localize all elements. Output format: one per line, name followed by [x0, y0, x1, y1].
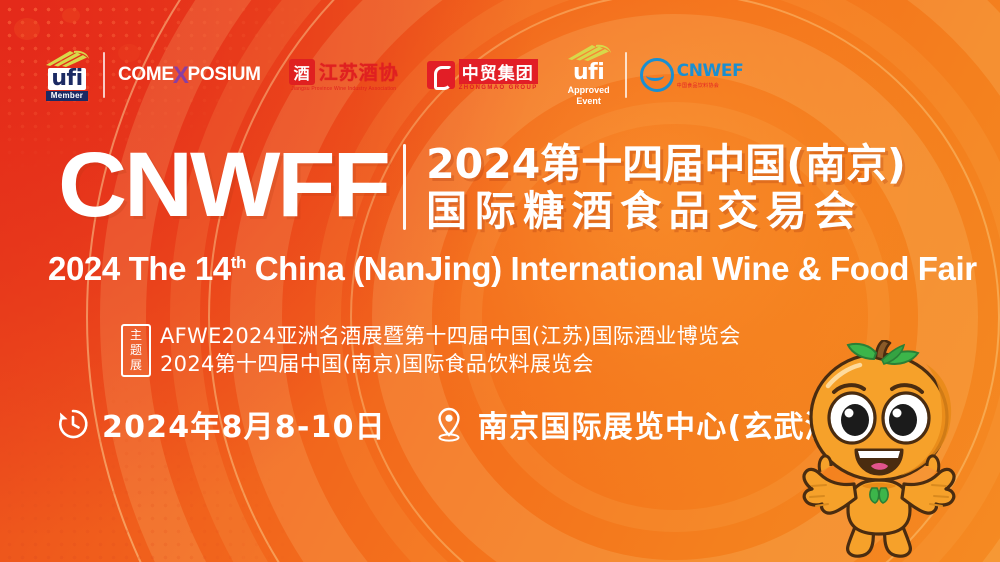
- jiangsu-sub-label: Jiangsu Province Wine Industry Associati…: [291, 86, 396, 92]
- comexposium-part2: POSIUM: [188, 64, 261, 86]
- english-title-prefix: 2024 The 14: [48, 250, 231, 287]
- english-title-ordinal: th: [231, 253, 246, 272]
- decorative-blob: [62, 8, 80, 23]
- ufi-approved-line1: Approved: [568, 85, 610, 95]
- logo-zhongmao-group: 中贸集团 ZHONGMAO GROUP: [427, 46, 538, 104]
- theme-line: 2024第十四届中国(南京)国际食品饮料展览会: [160, 352, 741, 377]
- logo-cnwef: CNWEF 中国食品饮料协会: [640, 46, 744, 104]
- chinese-title: 2024第十四届中国(南京) 国际糖酒食品交易会: [426, 142, 906, 232]
- partner-logo-bar: ufi Member COME X POSIUM 酒 江苏酒协 Jiangsu …: [44, 46, 743, 104]
- ufi-approved-line2: Event: [576, 96, 601, 106]
- logo-divider: [625, 52, 627, 98]
- orange-fruit-mascot: [776, 340, 994, 562]
- main-headline: CNWFF 2024第十四届中国(南京) 国际糖酒食品交易会: [58, 142, 906, 232]
- event-date: 2024年8月8-10日: [102, 402, 386, 446]
- theme-badge-char-3: 展: [130, 359, 142, 372]
- event-date-group: 2024年8月8-10日: [56, 402, 386, 446]
- logo-divider: [103, 52, 105, 98]
- comexposium-part1: COME: [118, 64, 174, 86]
- ufi-approved-wing-icon: [566, 44, 612, 61]
- logo-comexposium: COME X POSIUM: [118, 46, 261, 104]
- cnwef-globe-icon: [640, 58, 674, 92]
- theme-line: AFWE2024亚洲名酒展暨第十四届中国(江苏)国际酒业博览会: [160, 324, 741, 349]
- logo-ufi-member: ufi Member: [44, 46, 90, 104]
- decorative-blob: [14, 18, 40, 40]
- location-pin-icon: [432, 406, 466, 442]
- zhongmao-sub-label: ZHONGMAO GROUP: [459, 85, 538, 91]
- zhongmao-mark-icon: [427, 61, 455, 89]
- chinese-title-line-2: 国际糖酒食品交易会: [426, 191, 906, 232]
- english-title-suffix: China (NanJing) International Wine & Foo…: [246, 250, 977, 287]
- cnwef-sub-label: 中国食品饮料协会: [677, 82, 744, 89]
- jiangsu-seal-icon: 酒: [289, 59, 315, 85]
- comexposium-x-accent: X: [173, 62, 189, 90]
- zhongmao-wordmark: 中贸集团: [459, 59, 538, 84]
- clock-icon: [56, 407, 90, 441]
- jiangsu-wordmark: 江苏酒协: [319, 58, 399, 85]
- logo-jiangsu-wine-association: 酒 江苏酒协 Jiangsu Province Wine Industry As…: [289, 46, 399, 104]
- theme-line-list: AFWE2024亚洲名酒展暨第十四届中国(江苏)国际酒业博览会 2024第十四届…: [160, 324, 741, 377]
- ufi-wing-icon: [44, 50, 90, 67]
- english-title: 2024 The 14th China (NanJing) Internatio…: [48, 250, 977, 288]
- ufi-member-label: Member: [46, 91, 88, 101]
- theme-badge: 主 题 展: [121, 324, 151, 377]
- theme-exhibitions: 主 题 展 AFWE2024亚洲名酒展暨第十四届中国(江苏)国际酒业博览会 20…: [121, 324, 741, 377]
- theme-badge-char-2: 题: [130, 344, 142, 357]
- headline-divider: [403, 144, 406, 230]
- logo-ufi-approved-event: ufi Approved Event: [566, 46, 612, 104]
- promo-banner: ufi Member COME X POSIUM 酒 江苏酒协 Jiangsu …: [0, 0, 1000, 562]
- chinese-title-line-1: 2024第十四届中国(南京): [426, 144, 906, 185]
- event-meta: 2024年8月8-10日 南京国际展览中心(玄武湖): [56, 402, 851, 446]
- ufi-approved-wordmark: ufi: [570, 62, 607, 84]
- theme-badge-char-1: 主: [130, 329, 142, 342]
- cnwef-wordmark: CNWEF: [677, 61, 744, 81]
- event-acronym: CNWFF: [58, 142, 388, 228]
- ufi-wordmark: ufi: [48, 68, 85, 90]
